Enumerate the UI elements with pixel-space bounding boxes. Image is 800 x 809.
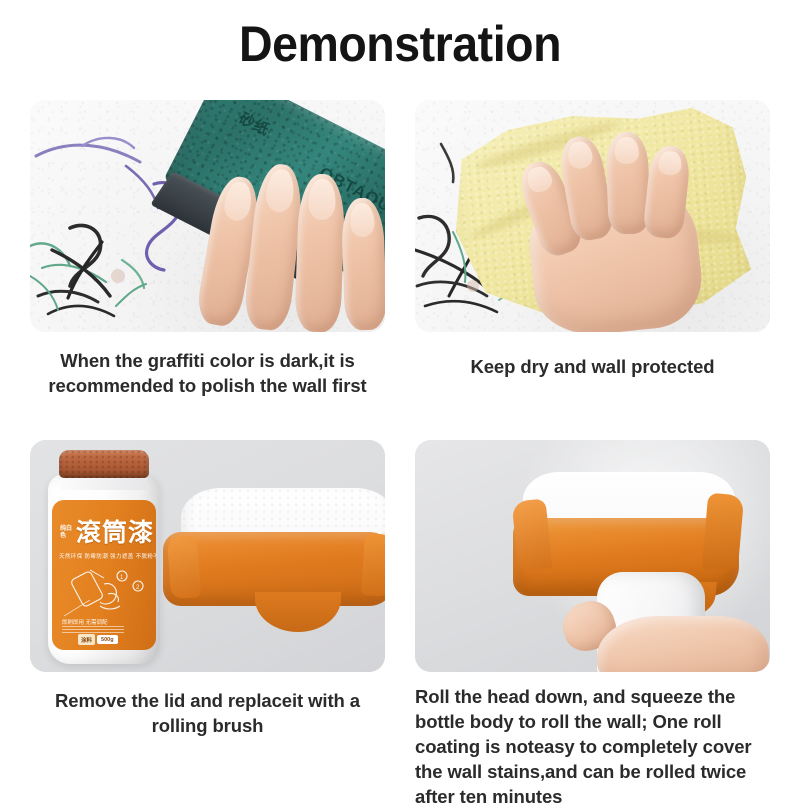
step-caption: When the graffiti color is dark,it is re… (30, 348, 385, 398)
steps-grid: 砂纸 QBTAOUC 海绵 招纸 (0, 100, 800, 800)
label-kicker: 纯白色 (60, 526, 74, 540)
sanding-sponge-on-graffiti-wall-photo: 砂纸 QBTAOUC 海绵 招纸 (30, 100, 385, 332)
roller-arm-left (167, 535, 201, 599)
bottle-cap (59, 450, 149, 478)
svg-text:1: 1 (120, 575, 124, 581)
fingernail (308, 179, 336, 221)
bottle-and-roller-head-photo: 纯白色 滾筒漆 天然环保 防霉防潮 强力遮盖 不脱粉不掉渣 (30, 440, 385, 672)
fingernail (264, 168, 295, 214)
label-badge-weight: 500g (97, 635, 118, 644)
svg-text:2: 2 (136, 585, 140, 591)
label-badge-type: 涂料 (78, 634, 95, 645)
fingernail (350, 203, 376, 238)
step-card-keep-dry: Keep dry and wall protected (415, 100, 770, 379)
finger-ring (294, 173, 345, 332)
roller-brush-head (163, 488, 385, 638)
label-features: 天然环保 防霉防潮 强力遮盖 不脱粉不掉渣 (59, 552, 156, 560)
step-card-polish-wall: 砂纸 QBTAOUC 海绵 招纸 (30, 100, 385, 398)
wiping-wall-with-yellow-cloth-photo (415, 100, 770, 332)
step-card-roll-the-wall: Roll the head down, and squeeze the bott… (415, 440, 770, 809)
step-caption: Roll the head down, and squeeze the bott… (415, 684, 770, 809)
roller-stem (255, 592, 341, 632)
roller-arm-right (361, 533, 385, 597)
fingernail (614, 137, 639, 164)
finger-little (341, 197, 385, 330)
fingernail (566, 140, 595, 171)
hand (201, 158, 385, 332)
paint-bottle: 纯白色 滾筒漆 天然环保 防霉防潮 强力遮盖 不脱粉不掉渣 (48, 450, 160, 664)
label-illustration: 1 2 (60, 564, 148, 622)
fingernail (222, 180, 254, 223)
demonstration-infographic: Demonstration (0, 0, 800, 800)
roller-arm-right (702, 493, 744, 572)
step-card-replace-lid: 纯白色 滾筒漆 天然环保 防霉防潮 强力遮盖 不脱粉不掉渣 (30, 440, 385, 738)
step-caption: Remove the lid and replaceit with a roll… (30, 688, 385, 738)
hand-squeezing-bottle (555, 586, 770, 672)
label-subtext: 即刷即用 无需调配 (62, 618, 108, 626)
label-badge-group: 涂料 500g (78, 634, 118, 645)
bottle-label: 纯白色 滾筒漆 天然环保 防霉防潮 强力遮盖 不脱粉不掉渣 (52, 500, 156, 650)
step-caption: Keep dry and wall protected (415, 354, 770, 379)
hand (507, 118, 722, 332)
roller-arm-left (511, 498, 552, 571)
rolling-paint-on-wall-photo (415, 440, 770, 672)
palm (597, 616, 769, 672)
page-title: Demonstration (28, 14, 772, 74)
fingernail (657, 150, 683, 176)
label-title: 滾筒漆 (76, 520, 154, 546)
fingernail (524, 163, 555, 195)
